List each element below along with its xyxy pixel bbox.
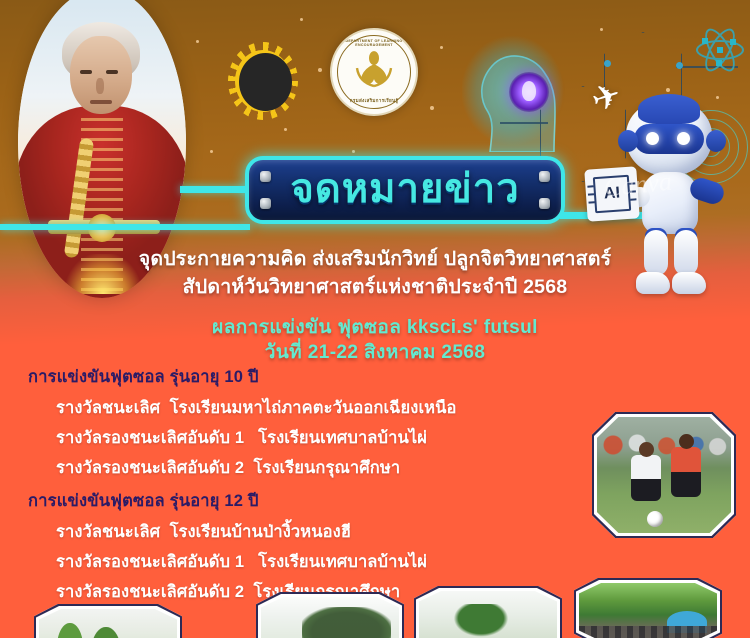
activity-photo-1: [34, 604, 182, 638]
page-title: จดหมายข่าว: [249, 160, 561, 220]
newsletter-title-plaque: จดหมายข่าว: [245, 156, 565, 224]
activity-photo-3: [414, 586, 562, 638]
ministry-emblem-logo: DEPARTMENT OF LEARNING ENCOURAGEMENT กรม…: [330, 28, 418, 116]
activity-photo-4: [574, 578, 722, 638]
star-dot: [318, 68, 322, 72]
activity-photo-2: [256, 592, 404, 638]
teal-pipe: [0, 224, 250, 230]
circuit-node: [676, 62, 683, 69]
teal-pipe: [180, 186, 250, 193]
star-dot: [430, 106, 434, 110]
results-line-2: วันที่ 21-22 สิงหาคม 2568: [0, 337, 750, 367]
star-dot: [300, 18, 303, 21]
emblem-glyph-icon: [350, 48, 398, 94]
star-dot: [352, 150, 355, 153]
result-item: รางวัลรองชนะเลิศอันดับ 1 โรงเรียนเทศบาลบ…: [56, 425, 600, 451]
star-dot: [284, 128, 287, 131]
results-section-age10: การแข่งขันฟุตซอล รุ่นอายุ 10 ปี รางวัลชน…: [0, 364, 600, 485]
emblem-outer-text: DEPARTMENT OF LEARNING ENCOURAGEMENT: [332, 39, 416, 47]
circuit-line: [500, 122, 548, 124]
newsletter-poster: DEPARTMENT OF LEARNING ENCOURAGEMENT กรม…: [0, 0, 750, 638]
result-item: รางวัลชนะเลิศ โรงเรียนบ้านป่างิ้วหนองฮี: [56, 519, 600, 545]
star-dot: [600, 28, 603, 31]
result-item: รางวัลรองชนะเลิศอันดับ 2 โรงเรียนกรุณาศึ…: [56, 455, 600, 481]
circuit-node: [604, 60, 611, 67]
section-heading: การแข่งขันฟุตซอล รุ่นอายุ 10 ปี: [28, 364, 600, 390]
atom-icon: [694, 30, 746, 86]
star-dot: [210, 150, 213, 153]
futsal-match-photo: [592, 412, 736, 538]
subtitle-line-1: จุดประกายความคิด ส่งเสริมนักวิทย์ ปลูกจิ…: [0, 243, 750, 274]
solar-eclipse-icon: [228, 42, 298, 120]
subtitle-line-2: สัปดาห์วันวิทยาศาสตร์แห่งชาติประจำปี 256…: [0, 271, 750, 302]
section-list: รางวัลชนะเลิศ โรงเรียนมหาไถ่ภาคตะวันออกเ…: [28, 395, 600, 481]
star-dot: [440, 46, 443, 49]
emblem-thai-text: กรมส่งเสริมการเรียนรู้: [332, 98, 416, 105]
ai-chip-card: AI: [584, 166, 640, 222]
result-item: รางวัลรองชนะเลิศอันดับ 1 โรงเรียนเทศบาลบ…: [56, 549, 600, 575]
star-dot: [196, 40, 199, 43]
section-heading: การแข่งขันฟุตซอล รุ่นอายุ 12 ปี: [28, 488, 600, 514]
result-item: รางวัลชนะเลิศ โรงเรียนมหาไถ่ภาคตะวันออกเ…: [56, 395, 600, 421]
ai-card-label: AI: [593, 175, 631, 213]
